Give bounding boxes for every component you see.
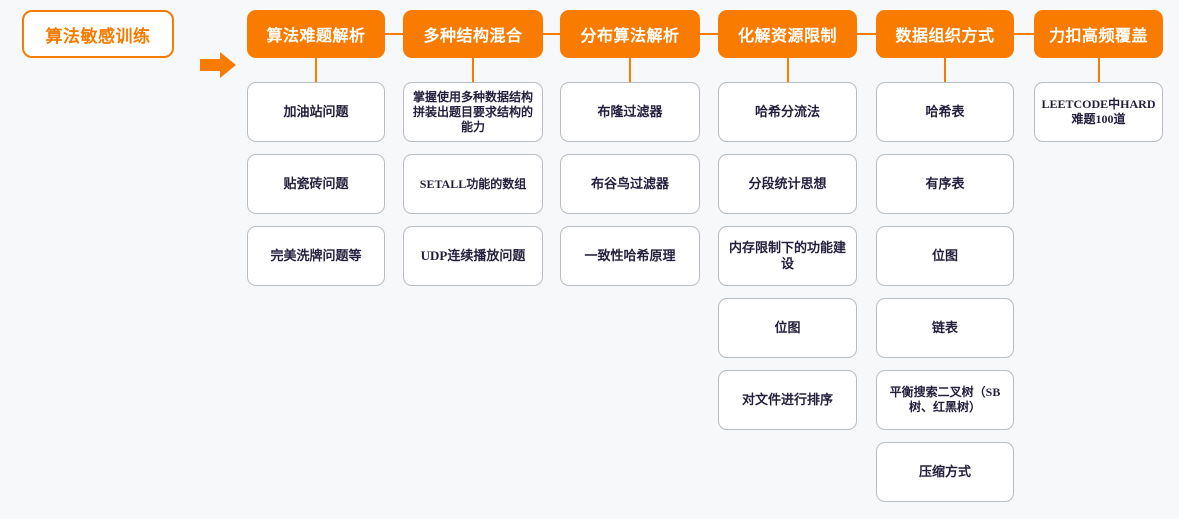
leaf-node-label: 对文件进行排序 xyxy=(742,392,833,408)
leaf-node-label: 链表 xyxy=(932,320,958,336)
root-node-label: 算法敏感训练 xyxy=(46,22,151,47)
leaf-node[interactable]: 布隆过滤器 xyxy=(560,82,700,142)
column-header-label: 化解资源限制 xyxy=(738,22,837,46)
leaf-node-label: 布谷鸟过滤器 xyxy=(591,176,669,192)
leaf-node-label: 有序表 xyxy=(925,176,964,192)
leaf-node[interactable]: 有序表 xyxy=(876,154,1014,214)
leaf-node-label: 内存限制下的功能建设 xyxy=(724,240,851,273)
leaf-node[interactable]: 布谷鸟过滤器 xyxy=(560,154,700,214)
header-connector-vertical xyxy=(315,58,317,82)
column-header-2[interactable]: 多种结构混合 xyxy=(403,10,543,58)
column-header-label: 算法难题解析 xyxy=(266,22,365,46)
leaf-node[interactable]: SETALL功能的数组 xyxy=(403,154,543,214)
leaf-node[interactable]: LEETCODE中HARD难题100道 xyxy=(1034,82,1163,142)
column-header-label: 力扣高频覆盖 xyxy=(1049,22,1148,46)
header-connector-horizontal xyxy=(700,33,718,35)
column-header-4[interactable]: 化解资源限制 xyxy=(718,10,857,58)
header-connector-vertical xyxy=(472,58,474,82)
leaf-node-label: 分段统计思想 xyxy=(748,176,826,192)
leaf-node[interactable]: 压缩方式 xyxy=(876,442,1014,502)
right-arrow-svg xyxy=(200,51,236,79)
leaf-node[interactable]: 完美洗牌问题等 xyxy=(247,226,385,286)
leaf-node[interactable]: 哈希表 xyxy=(876,82,1014,142)
header-connector-horizontal xyxy=(385,33,403,35)
header-connector-vertical xyxy=(787,58,789,82)
column-header-label: 多种结构混合 xyxy=(423,22,522,46)
leaf-node[interactable]: 分段统计思想 xyxy=(718,154,857,214)
column-header-label: 分布算法解析 xyxy=(580,22,679,46)
right-arrow-icon xyxy=(200,51,236,79)
leaf-node-label: 一致性哈希原理 xyxy=(584,248,675,264)
leaf-node-label: LEETCODE中HARD难题100道 xyxy=(1040,97,1157,127)
column-header-3[interactable]: 分布算法解析 xyxy=(560,10,700,58)
header-connector-vertical xyxy=(629,58,631,82)
root-node[interactable]: 算法敏感训练 xyxy=(22,10,174,58)
header-connector-horizontal xyxy=(1014,33,1034,35)
leaf-node[interactable]: 位图 xyxy=(718,298,857,358)
column-header-5[interactable]: 数据组织方式 xyxy=(876,10,1014,58)
leaf-node[interactable]: 链表 xyxy=(876,298,1014,358)
leaf-node[interactable]: 加油站问题 xyxy=(247,82,385,142)
leaf-node-label: 平衡搜索二叉树（SB树、红黑树） xyxy=(882,385,1008,415)
leaf-node-label: SETALL功能的数组 xyxy=(420,177,526,192)
leaf-node[interactable]: 内存限制下的功能建设 xyxy=(718,226,857,286)
leaf-node-label: 哈希分流法 xyxy=(755,104,820,120)
leaf-node-label: 掌握使用多种数据结构拼装出题目要求结构的能力 xyxy=(409,90,537,135)
header-connector-horizontal xyxy=(857,33,876,35)
leaf-node-label: UDP连续播放问题 xyxy=(421,248,526,264)
leaf-node[interactable]: UDP连续播放问题 xyxy=(403,226,543,286)
header-connector-vertical xyxy=(1098,58,1100,82)
leaf-node[interactable]: 平衡搜索二叉树（SB树、红黑树） xyxy=(876,370,1014,430)
leaf-node-label: 完美洗牌问题等 xyxy=(270,248,361,264)
column-header-1[interactable]: 算法难题解析 xyxy=(247,10,385,58)
leaf-node-label: 位图 xyxy=(932,248,958,264)
leaf-node-label: 加油站问题 xyxy=(283,104,348,120)
header-connector-vertical xyxy=(944,58,946,82)
leaf-node-label: 位图 xyxy=(774,320,800,336)
leaf-node[interactable]: 位图 xyxy=(876,226,1014,286)
leaf-node-label: 哈希表 xyxy=(925,104,964,120)
leaf-node[interactable]: 哈希分流法 xyxy=(718,82,857,142)
leaf-node-label: 布隆过滤器 xyxy=(597,104,662,120)
leaf-node[interactable]: 贴瓷砖问题 xyxy=(247,154,385,214)
header-connector-horizontal xyxy=(543,33,560,35)
leaf-node-label: 贴瓷砖问题 xyxy=(283,176,348,192)
column-header-label: 数据组织方式 xyxy=(895,22,994,46)
leaf-node[interactable]: 一致性哈希原理 xyxy=(560,226,700,286)
leaf-node[interactable]: 对文件进行排序 xyxy=(718,370,857,430)
diagram-canvas: 算法敏感训练 算法难题解析加油站问题贴瓷砖问题完美洗牌问题等多种结构混合掌握使用… xyxy=(0,0,1179,519)
column-header-6[interactable]: 力扣高频覆盖 xyxy=(1034,10,1163,58)
leaf-node-label: 压缩方式 xyxy=(919,464,971,480)
leaf-node[interactable]: 掌握使用多种数据结构拼装出题目要求结构的能力 xyxy=(403,82,543,142)
